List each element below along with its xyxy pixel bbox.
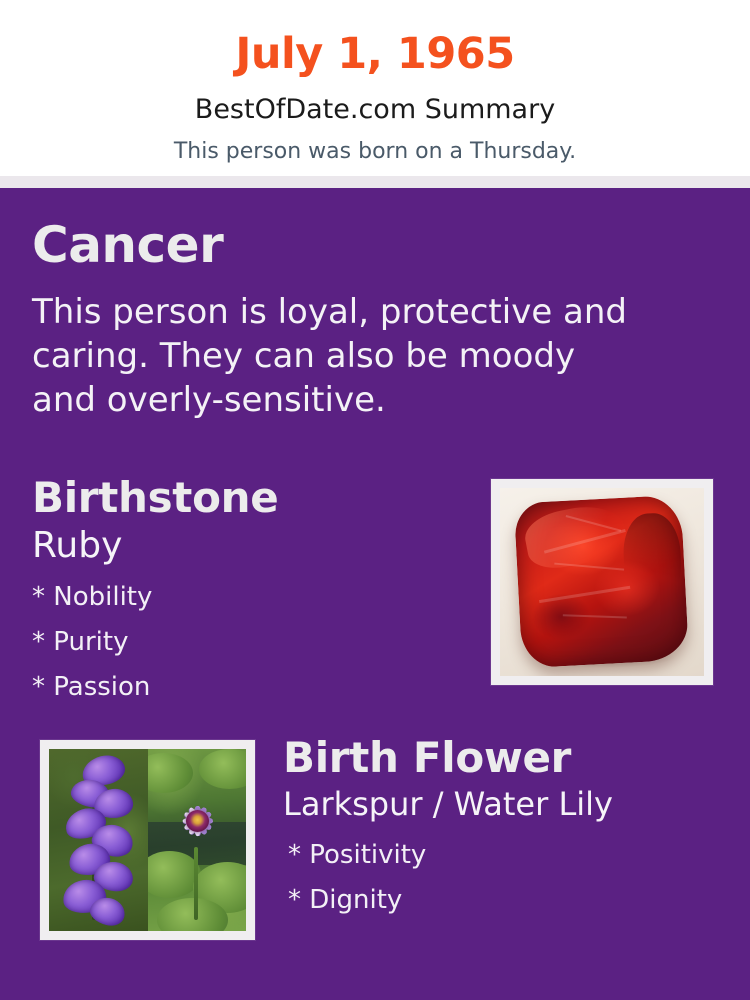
- header: July 1, 1965 BestOfDate.com Summary This…: [0, 0, 750, 176]
- header-divider-band: [0, 176, 750, 188]
- gem-facet-line: [566, 515, 621, 532]
- list-item: * Dignity: [288, 878, 723, 923]
- site-name-subtitle: BestOfDate.com Summary: [0, 76, 750, 123]
- water-lily-bloom: [163, 789, 232, 855]
- zodiac-description: This person is loyal, protective and car…: [32, 290, 648, 423]
- larkspur-and-water-lily-photo: [49, 749, 246, 931]
- birthstone-section: Birthstone Ruby * Nobility * Purity * Pa…: [32, 476, 462, 709]
- lily-pad: [148, 753, 193, 793]
- water-lily-photo: [148, 749, 247, 931]
- birth-flower-section: Birth Flower Larkspur / Water Lily * Pos…: [283, 736, 723, 923]
- summary-card: July 1, 1965 BestOfDate.com Summary This…: [0, 0, 750, 1000]
- birthstone-trait-list: * Nobility * Purity * Passion: [32, 575, 462, 709]
- born-day-text: This person was born on a Thursday.: [0, 123, 750, 163]
- list-item: * Purity: [32, 620, 462, 665]
- list-item: * Passion: [32, 665, 462, 710]
- page-title: July 1, 1965: [0, 0, 750, 76]
- gem-facet-line: [564, 614, 628, 618]
- lily-pad: [199, 749, 246, 789]
- list-item: * Positivity: [288, 833, 723, 878]
- birthstone-name: Ruby: [32, 524, 462, 567]
- birth-flower-trait-list: * Positivity * Dignity: [288, 833, 723, 922]
- ruby-gemstone-photo: [500, 488, 704, 676]
- birth-flower-heading: Birth Flower: [283, 736, 723, 780]
- gem-facet-line: [554, 563, 624, 571]
- birth-flower-name: Larkspur / Water Lily: [283, 785, 723, 823]
- ruby-crystal-shape: [514, 495, 690, 669]
- gem-facet-line: [539, 586, 630, 603]
- larkspur-photo: [49, 749, 148, 931]
- zodiac-sign-heading: Cancer: [32, 220, 223, 270]
- gem-facet-line: [544, 529, 626, 554]
- birthstone-heading: Birthstone: [32, 476, 462, 520]
- list-item: * Nobility: [32, 575, 462, 620]
- birth-flower-image-frame: [40, 740, 255, 940]
- flower-stem: [194, 847, 198, 920]
- birthstone-image-frame: [491, 479, 713, 685]
